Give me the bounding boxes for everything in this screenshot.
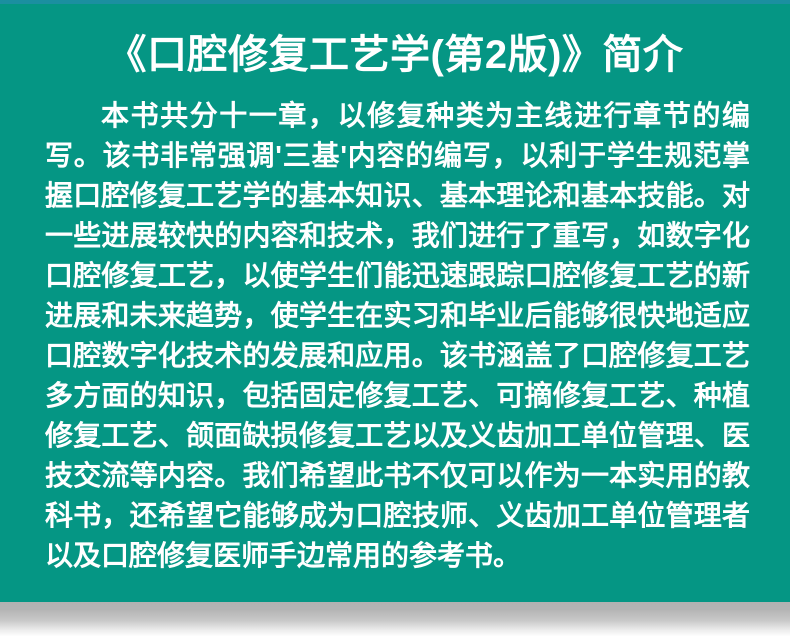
promo-banner-page: 《口腔修复工艺学(第2版)》简介 本书共分十一章，以修复种类为主线进行章节的编写… xyxy=(0,0,790,636)
bottom-gradient-strip xyxy=(0,602,790,636)
book-intro-panel: 《口腔修复工艺学(第2版)》简介 本书共分十一章，以修复种类为主线进行章节的编写… xyxy=(0,4,790,602)
book-description-paragraph: 本书共分十一章，以修复种类为主线进行章节的编写。该书非常强调'三基'内容的编写，… xyxy=(0,78,790,576)
page-title: 《口腔修复工艺学(第2版)》简介 xyxy=(0,4,790,78)
